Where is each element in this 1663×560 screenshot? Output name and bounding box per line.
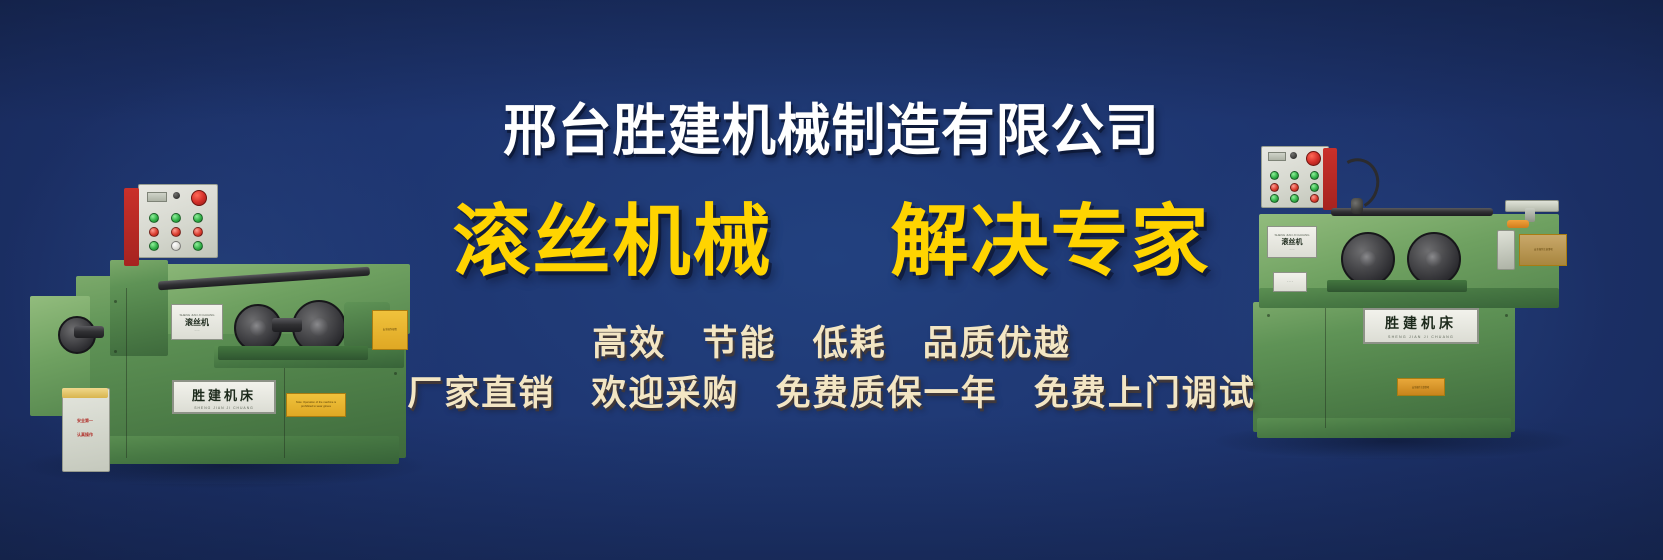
- panel-r-button-green-1[interactable]: [1270, 171, 1279, 180]
- machine-left-column: [110, 260, 168, 356]
- panel-meter-left: [147, 192, 167, 202]
- machine-photo-right: green thread rolling machine side view w…: [1175, 122, 1595, 452]
- machine-right-valve-block: [1497, 230, 1515, 270]
- side-yellow-plate-text-left: 安全操作规程: [383, 328, 397, 331]
- machine-right-orange-connector: [1507, 220, 1529, 228]
- roller-hub-left-2: [310, 318, 328, 336]
- side-plate-text-right: 安全操作注意事项: [1534, 248, 1553, 251]
- panel-r-button-red-3[interactable]: [1310, 194, 1319, 203]
- machine-left-cabinet-text: 安全第一: [66, 418, 104, 424]
- panel-meter-right: [1268, 152, 1286, 161]
- machine-right-spec-plate: SHENG JIAN JI CHUANG 滚丝机 - - -: [1267, 226, 1317, 258]
- machine-left-side-yellow-plate: 安全操作规程: [372, 310, 408, 350]
- small-plate-text-right: - - - -: [1287, 280, 1293, 283]
- machine-left-roller-bed: [218, 346, 368, 360]
- machine-left-bolt-2: [114, 350, 117, 353]
- machine-left-cabinet-text-2: 认真操作: [66, 432, 104, 438]
- panel-r-button-green-3[interactable]: [1310, 171, 1319, 180]
- emergency-stop-button-left[interactable]: [191, 190, 207, 206]
- machine-left-seam-1: [126, 288, 127, 458]
- machine-right-roller-1: [1341, 232, 1395, 286]
- panel-button-green-2[interactable]: [171, 213, 181, 223]
- panel-button-green-3[interactable]: [193, 213, 203, 223]
- machine-left-brand-plate: 胜建机床 SHENG JIAN JI CHUANG: [172, 380, 276, 414]
- panel-r-button-green-5[interactable]: [1270, 194, 1279, 203]
- machine-right-control-panel[interactable]: [1261, 146, 1329, 208]
- machine-left-bolt-3: [394, 372, 397, 375]
- panel-button-green-4[interactable]: [149, 241, 159, 251]
- machine-left-cabinet-top: [62, 388, 108, 398]
- machine-photo-left: green thread rolling machine with contro…: [14, 88, 434, 478]
- roller-hub-right-2: [1426, 251, 1442, 267]
- panel-r-button-green-4[interactable]: [1310, 183, 1319, 192]
- machine-right-small-plate: - - - -: [1273, 272, 1307, 292]
- machine-left-electrical-cabinet: [62, 388, 110, 472]
- spec-plate-title-left: 滚丝机: [185, 317, 209, 328]
- machine-right-bolt-1: [1267, 314, 1270, 317]
- brand-plate-cn-right: 胜建机床: [1385, 313, 1457, 333]
- panel-button-red-2[interactable]: [171, 227, 181, 237]
- machine-right-body-base: [1257, 418, 1511, 438]
- machine-left-roller-shaft: [272, 318, 302, 332]
- machine-right-seam-1: [1325, 308, 1326, 428]
- spec-plate-sub-left: - - -: [195, 328, 200, 332]
- machine-left-panel-red-strip: [124, 188, 139, 266]
- machine-left-spec-plate: SHENG JIAN JI CHUANG 滚丝机 - - -: [171, 304, 223, 340]
- panel-button-white-1[interactable]: [171, 241, 181, 251]
- panel-r-button-green-2[interactable]: [1290, 171, 1299, 180]
- panel-r-button-red-1[interactable]: [1270, 183, 1279, 192]
- machine-left-seam-2: [284, 368, 285, 458]
- brand-plate-cn-left: 胜建机床: [192, 385, 256, 404]
- roller-hub-right-1: [1360, 251, 1376, 267]
- panel-button-green-1[interactable]: [149, 213, 159, 223]
- machine-right-bolt-2: [1505, 314, 1508, 317]
- panel-button-red-1[interactable]: [149, 227, 159, 237]
- warning-label-text-left: Note: Operation of the machine is prohib…: [290, 402, 342, 409]
- emergency-stop-button-right[interactable]: [1306, 151, 1321, 166]
- spec-plate-sub-right: - - -: [1290, 247, 1295, 251]
- machine-left-control-panel[interactable]: [138, 184, 218, 258]
- panel-knob-right[interactable]: [1290, 152, 1297, 159]
- panel-r-button-green-6[interactable]: [1290, 194, 1299, 203]
- promotional-banner: green thread rolling machine with contro…: [0, 0, 1663, 560]
- machine-left-body-base: [84, 436, 399, 464]
- panel-knob-left[interactable]: [173, 192, 180, 199]
- panel-button-red-3[interactable]: [193, 227, 203, 237]
- machine-left-warning-label: Note: Operation of the machine is prohib…: [286, 393, 346, 417]
- machine-left-bolt-1: [114, 300, 117, 303]
- hose-nozzle-right[interactable]: [1351, 198, 1363, 214]
- machine-left-nose-shaft: [74, 326, 104, 338]
- machine-right-roller-2: [1407, 232, 1461, 286]
- machine-right-roller-bed: [1327, 280, 1467, 292]
- panel-r-button-red-2[interactable]: [1290, 183, 1299, 192]
- panel-button-green-5[interactable]: [193, 241, 203, 251]
- bottom-label-text-right: 安全操作注意事项: [1412, 386, 1429, 389]
- brand-plate-pinyin-right: SHENG JIAN JI CHUANG: [1388, 335, 1454, 339]
- brand-plate-pinyin-left: SHENG JIAN JI CHUANG: [194, 406, 254, 410]
- spec-plate-title-right: 滚丝机: [1282, 237, 1303, 247]
- machine-right-side-plate: 安全操作注意事项: [1519, 234, 1567, 266]
- machine-right-bottom-label: 安全操作注意事项: [1397, 378, 1445, 396]
- roller-hub-left-1: [250, 320, 266, 336]
- machine-right-brand-plate: 胜建机床 SHENG JIAN JI CHUANG: [1363, 308, 1479, 344]
